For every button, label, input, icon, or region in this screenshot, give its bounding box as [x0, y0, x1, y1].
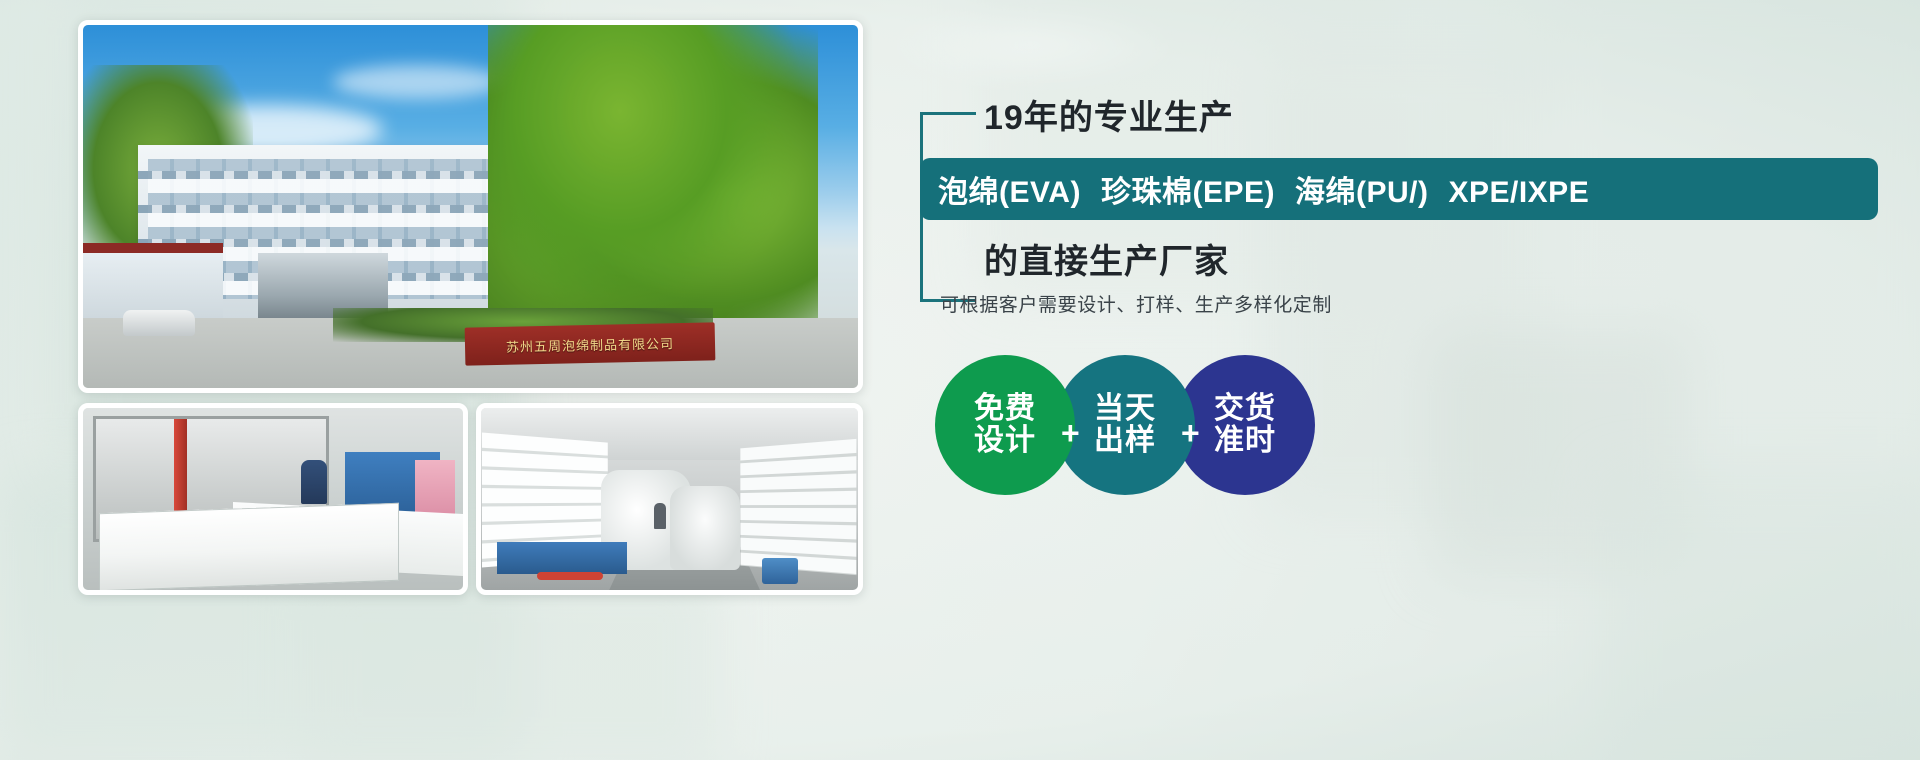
subline-text: 可根据客户需要设计、打样、生产多样化定制	[940, 290, 1332, 317]
worker	[301, 460, 327, 504]
product-tag-list: 泡绵(EVA) 珍珠棉(EPE) 海绵(PU/) XPE/IXPE	[938, 167, 1589, 211]
red-pipe	[537, 572, 603, 580]
product-tag-xpe: XPE/IXPE	[1448, 176, 1589, 210]
parked-car	[123, 310, 195, 336]
packed-bags-right	[670, 486, 740, 570]
company-sign: 苏州五周泡绵制品有限公司	[465, 322, 716, 365]
badge-line-2: 出样	[1094, 425, 1156, 457]
photo-factory-exterior: 苏州五周泡绵制品有限公司	[78, 20, 863, 393]
warehouse-scene	[481, 408, 858, 590]
badge-line-2: 准时	[1214, 425, 1276, 457]
plus-icon: +	[1181, 417, 1200, 449]
photo-collage: 苏州五周泡绵制品有限公司	[78, 20, 863, 595]
tree-right	[488, 20, 818, 335]
product-tag-epe: 珍珠棉(EPE)	[1101, 167, 1275, 211]
photo-factory-scene: 苏州五周泡绵制品有限公司	[83, 25, 858, 388]
photo-warehouse-aisle	[476, 403, 863, 595]
headline-top: 19年的专业生产	[984, 90, 1234, 139]
worker	[654, 503, 666, 529]
foam-roll-stack-right	[740, 439, 856, 575]
badge-line-1: 交货	[1214, 393, 1276, 425]
badge-line-2: 设计	[974, 425, 1036, 457]
foam-sheet-stack-front	[99, 503, 399, 591]
product-tag-bar: 泡绵(EVA) 珍珠棉(EPE) 海绵(PU/) XPE/IXPE	[920, 158, 1878, 220]
product-tag-eva: 泡绵(EVA)	[938, 167, 1081, 211]
feature-badges: 免费 设计 当天 出样 交货 准时 + +	[935, 355, 1355, 505]
workshop-scene	[83, 408, 463, 590]
promo-banner: 苏州五周泡绵制品有限公司	[0, 0, 1920, 760]
badge-line-1: 免费	[974, 393, 1036, 425]
badge-free-design: 免费 设计	[935, 355, 1075, 495]
work-table	[497, 542, 627, 574]
plus-icon: +	[1061, 417, 1080, 449]
badge-line-1: 当天	[1094, 393, 1156, 425]
blue-bin	[762, 558, 798, 584]
headline-bottom: 的直接生产厂家	[984, 234, 1229, 283]
photo-foam-cutting-workshop	[78, 403, 468, 595]
cloud	[333, 65, 503, 99]
product-tag-pu: 海绵(PU/)	[1295, 167, 1429, 211]
